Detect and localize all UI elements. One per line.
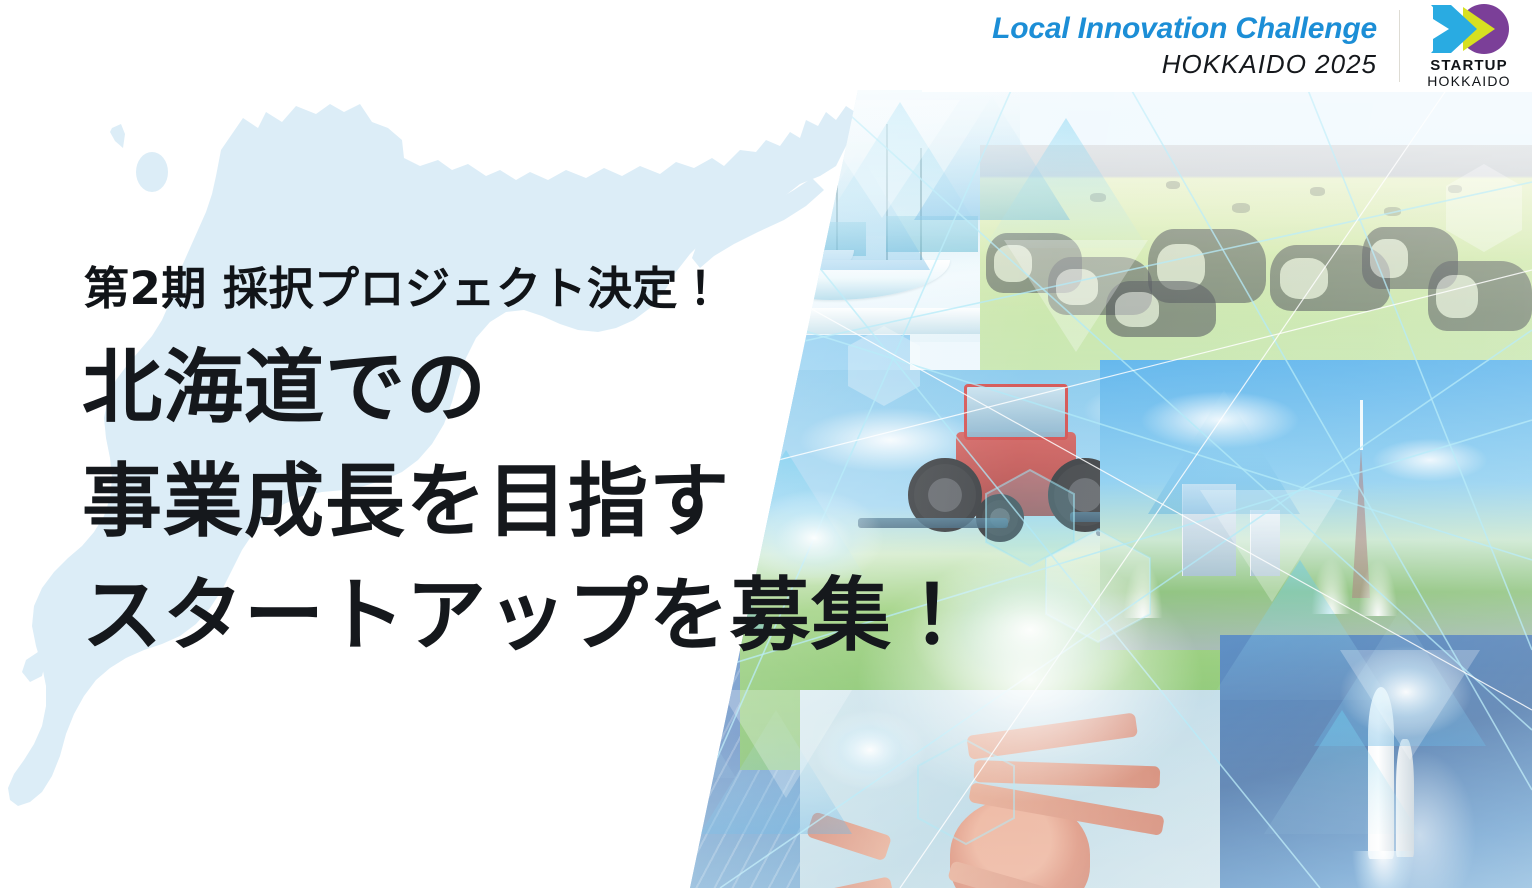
rocket-launch-photo xyxy=(1220,635,1532,888)
program-title-block: Local Innovation Challenge HOKKAIDO 2025 xyxy=(922,10,1399,83)
hero-headline-line-2: 事業成長を目指す xyxy=(82,462,730,542)
banner-header: Local Innovation Challenge HOKKAIDO 2025… xyxy=(922,0,1532,92)
program-title: Local Innovation Challenge xyxy=(922,12,1377,46)
logo-wordmark: STARTUP HOKKAIDO xyxy=(1427,58,1511,89)
sapporo-tv-tower-fountain-photo xyxy=(1100,360,1532,650)
hero-kicker: 第2期 採択プロジェクト決定！ xyxy=(84,252,723,317)
king-crab-seafood-photo xyxy=(800,690,1270,888)
startup-hokkaido-logo[interactable]: STARTUP HOKKAIDO xyxy=(1400,3,1524,89)
hero-headline-line-1: 北海道での xyxy=(82,348,487,428)
fishing-harbour-boats-photo xyxy=(600,90,1020,342)
logo-mark xyxy=(1427,3,1511,55)
hokkaido-industry-photo-collage xyxy=(600,90,1532,888)
logo-line-startup: STARTUP xyxy=(1427,58,1511,74)
program-subtitle: HOKKAIDO 2025 xyxy=(922,47,1377,82)
logo-line-hokkaido: HOKKAIDO xyxy=(1427,74,1511,89)
promotional-banner: Local Innovation Challenge HOKKAIDO 2025… xyxy=(0,0,1532,888)
